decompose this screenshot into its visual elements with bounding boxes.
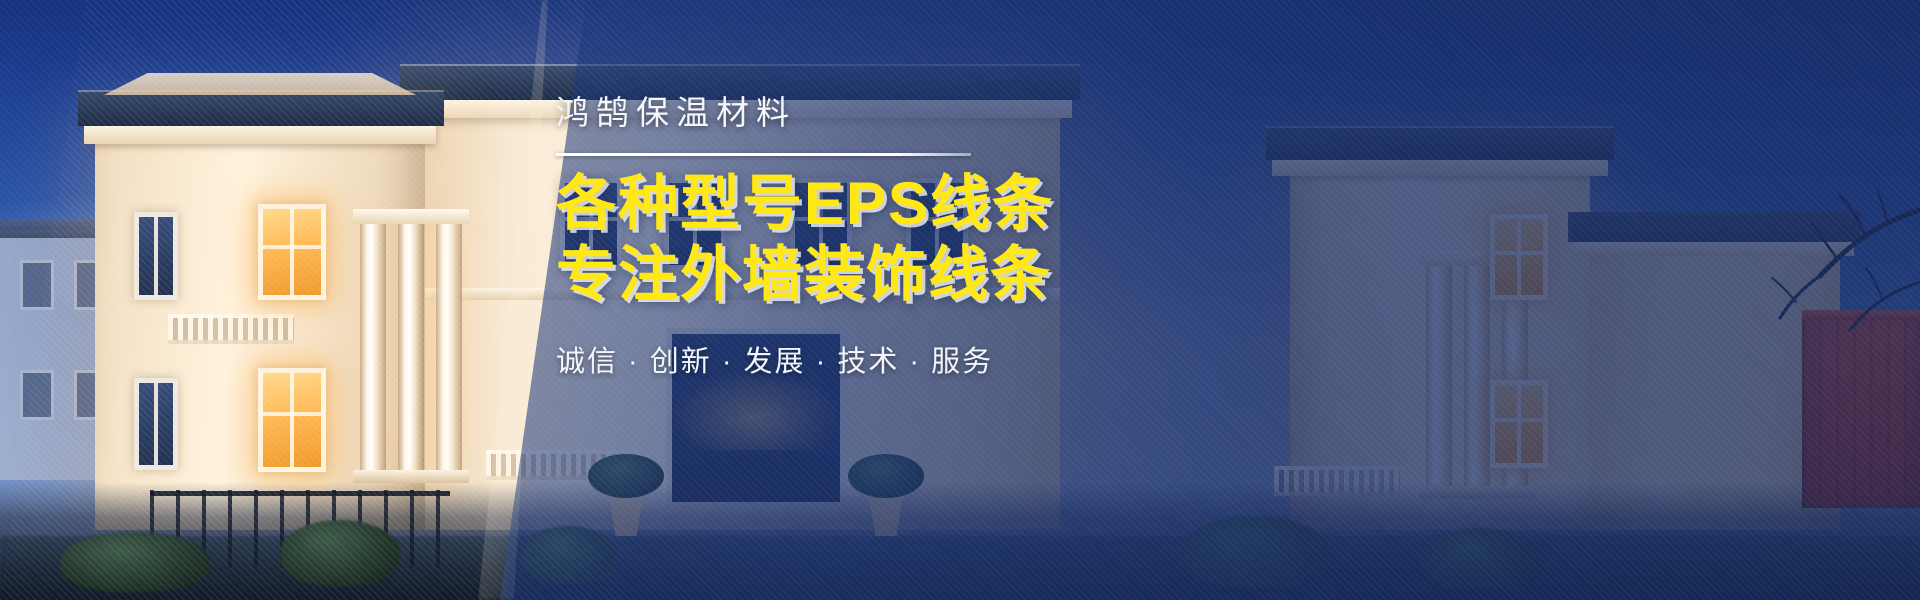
company-brand-name: 鸿鹄保温材料 xyxy=(556,96,1396,131)
text-divider xyxy=(556,153,971,156)
promo-banner: 鸿鹄保温材料 各种型号EPS线条 专注外墙装饰线条 诚信 · 创新 · 发展 ·… xyxy=(0,0,1920,600)
company-tagline: 诚信 · 创新 · 发展 · 技术 · 服务 xyxy=(556,338,1396,380)
headline-line-2: 专注外墙装饰线条 xyxy=(556,241,1396,308)
banner-text-block: 鸿鹄保温材料 各种型号EPS线条 专注外墙装饰线条 诚信 · 创新 · 发展 ·… xyxy=(556,96,1396,380)
headline-line-1: 各种型号EPS线条 xyxy=(556,170,1396,237)
